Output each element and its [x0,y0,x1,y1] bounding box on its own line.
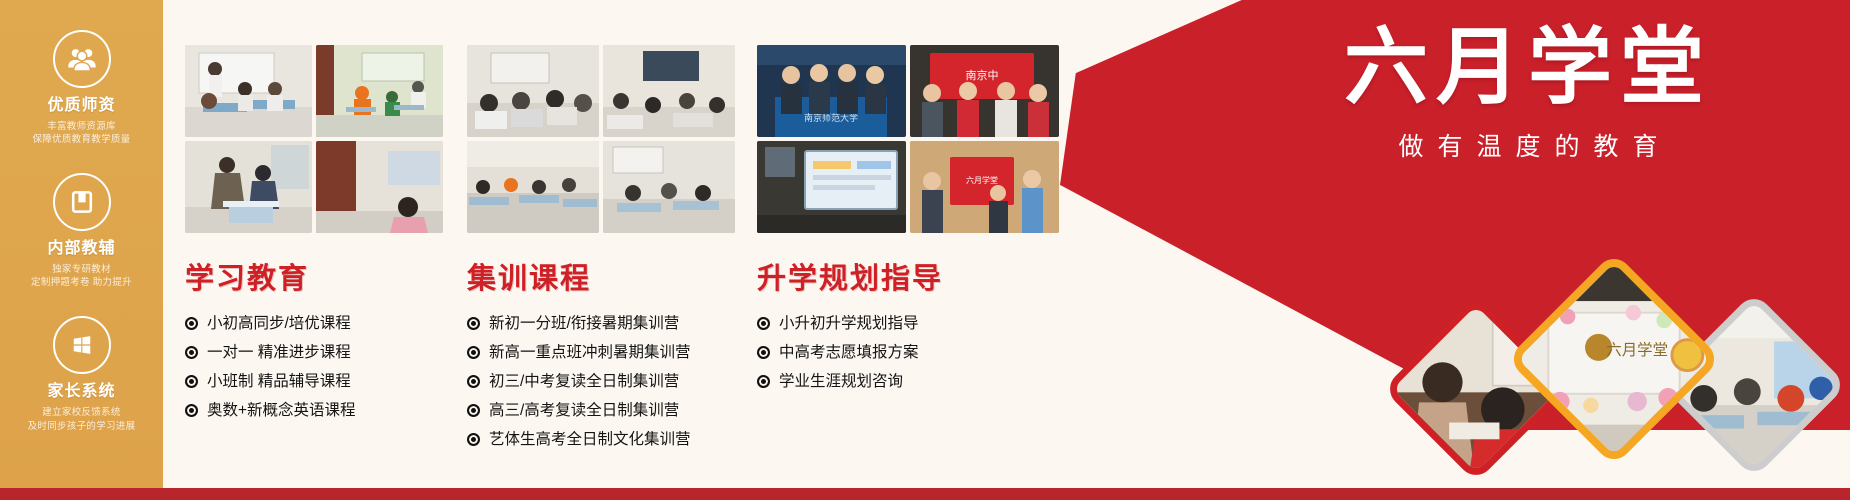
photo-classroom-wide-desks [603,141,735,233]
photo-smartboard-presentation [757,141,906,233]
bullet-icon [467,346,480,359]
photo-classroom-whiteboard-lesson [185,45,312,137]
sidebar-feature-teachers: 优质师资 丰富教师资源库 保障优质教育教学质量 [0,30,163,147]
bullet-icon [185,346,198,359]
course-list: 小升初升学规划指导 中高考志愿填报方案 学业生涯规划咨询 [757,309,1059,396]
list-item-label: 中高考志愿填报方案 [779,341,919,365]
svg-text:六月学堂: 六月学堂 [966,175,998,185]
section-title: 学习教育 [185,255,443,297]
list-item[interactable]: 新高一重点班冲刺暑期集训营 [467,338,735,367]
photo-grid [185,45,443,233]
list-item[interactable]: 学业生涯规划咨询 [757,367,1059,396]
book-icon [53,173,111,231]
photo-grid: 南京师范大学 南京中 [757,45,1059,233]
list-item-label: 初三/中考复读全日制集训营 [489,370,679,394]
course-column-intensive: 集训课程 新初一分班/衔接暑期集训营 新高一重点班冲刺暑期集训营 初三/中考复读… [467,45,735,454]
list-item[interactable]: 奥数+新概念英语课程 [185,396,443,425]
list-item[interactable]: 新初一分班/衔接暑期集训营 [467,309,735,338]
list-item-label: 小初高同步/培优课程 [207,312,351,336]
photo-teachers-group-stage: 南京师范大学 [757,45,906,137]
bullet-icon [467,317,480,330]
photo-classroom-projector-girl [316,141,443,233]
list-item-label: 小班制 精品辅导课程 [207,370,351,394]
list-item[interactable]: 一对一 精准进步课程 [185,338,443,367]
bullet-icon [757,375,770,388]
bullet-icon [757,317,770,330]
list-item[interactable]: 艺体生高考全日制文化集训营 [467,425,735,454]
photo-lecture-hall-back-view [467,45,599,137]
list-item-label: 奥数+新概念英语课程 [207,399,356,423]
list-item[interactable]: 初三/中考复读全日制集训营 [467,367,735,396]
sidebar-feature-sub-line2: 及时同步孩子的学习进展 [0,420,163,434]
promo-banner: 优质师资 丰富教师资源库 保障优质教育教学质量 内部教辅 独家专研教材 定制押题… [0,0,1850,500]
bullet-icon [467,404,480,417]
sidebar-feature-sub-line1: 建立家校反馈系统 [0,406,163,420]
main-content: 六月学堂 做有温度的教育 [163,0,1850,500]
photo-classroom-students-screen [603,45,735,137]
list-item[interactable]: 小升初升学规划指导 [757,309,1059,338]
windows-panes-icon [53,316,111,374]
bottom-accent-bar [0,488,1850,500]
photo-award-ceremony-red-banner: 南京中 [910,45,1059,137]
brand-title: 六月学堂 [1248,22,1808,113]
people-group-icon [53,30,111,88]
sidebar-feature-sub-line1: 丰富教师资源库 [0,120,163,134]
list-item[interactable]: 高三/高考复读全日制集训营 [467,396,735,425]
brand-tagline: 做有温度的教育 [1248,127,1808,163]
list-item-label: 小升初升学规划指导 [779,312,919,336]
sidebar-feature-sub-line2: 定制押题考卷 助力提升 [0,276,163,290]
list-item[interactable]: 小班制 精品辅导课程 [185,367,443,396]
photo-grid [467,45,735,233]
list-item-label: 高三/高考复读全日制集训营 [489,399,679,423]
photo-study-hall-rows [467,141,599,233]
sidebar-feature-title: 家长系统 [0,383,163,401]
course-column-study: 学习教育 小初高同步/培优课程 一对一 精准进步课程 小班制 精品辅导课程 奥数… [185,45,443,425]
sidebar-feature-sub-line1: 独家专研教材 [0,263,163,277]
section-title: 集训课程 [467,255,735,297]
sidebar-feature-title: 优质师资 [0,97,163,115]
course-list: 新初一分班/衔接暑期集训营 新高一重点班冲刺暑期集训营 初三/中考复读全日制集训… [467,309,735,454]
svg-text:南京中: 南京中 [966,68,999,82]
list-item-label: 艺体生高考全日制文化集训营 [489,428,691,452]
photo-teacher-tutoring-student [185,141,312,233]
bullet-icon [185,317,198,330]
section-title: 升学规划指导 [757,255,1059,297]
list-item-label: 学业生涯规划咨询 [779,370,903,394]
bullet-icon [757,346,770,359]
list-item[interactable]: 小初高同步/培优课程 [185,309,443,338]
bullet-icon [185,404,198,417]
sidebar-feature-parent-system: 家长系统 建立家校反馈系统 及时同步孩子的学习进展 [0,316,163,433]
course-list: 小初高同步/培优课程 一对一 精准进步课程 小班制 精品辅导课程 奥数+新概念英… [185,309,443,425]
diamond-classroom-stage-logo-photo: 六月学堂 [1507,252,1722,467]
svg-text:六月学堂: 六月学堂 [1606,341,1668,359]
photo-classroom-students-desks [316,45,443,137]
bullet-icon [185,375,198,388]
bullet-icon [467,375,480,388]
diamond-photo-cluster: 六月学堂 [1410,271,1840,486]
course-column-admissions: 南京师范大学 南京中 [757,45,1059,396]
brand-block: 六月学堂 做有温度的教育 [1248,22,1808,163]
features-sidebar: 优质师资 丰富教师资源库 保障优质教育教学质量 内部教辅 独家专研教材 定制押题… [0,0,163,500]
bullet-icon [467,433,480,446]
sidebar-feature-title: 内部教辅 [0,240,163,258]
photo-certificate-presentation: 六月学堂 [910,141,1059,233]
list-item-label: 新初一分班/衔接暑期集训营 [489,312,679,336]
sidebar-feature-materials: 内部教辅 独家专研教材 定制押题考卷 助力提升 [0,173,163,290]
sidebar-feature-sub-line2: 保障优质教育教学质量 [0,133,163,147]
list-item-label: 新高一重点班冲刺暑期集训营 [489,341,691,365]
list-item[interactable]: 中高考志愿填报方案 [757,338,1059,367]
list-item-label: 一对一 精准进步课程 [207,341,351,365]
